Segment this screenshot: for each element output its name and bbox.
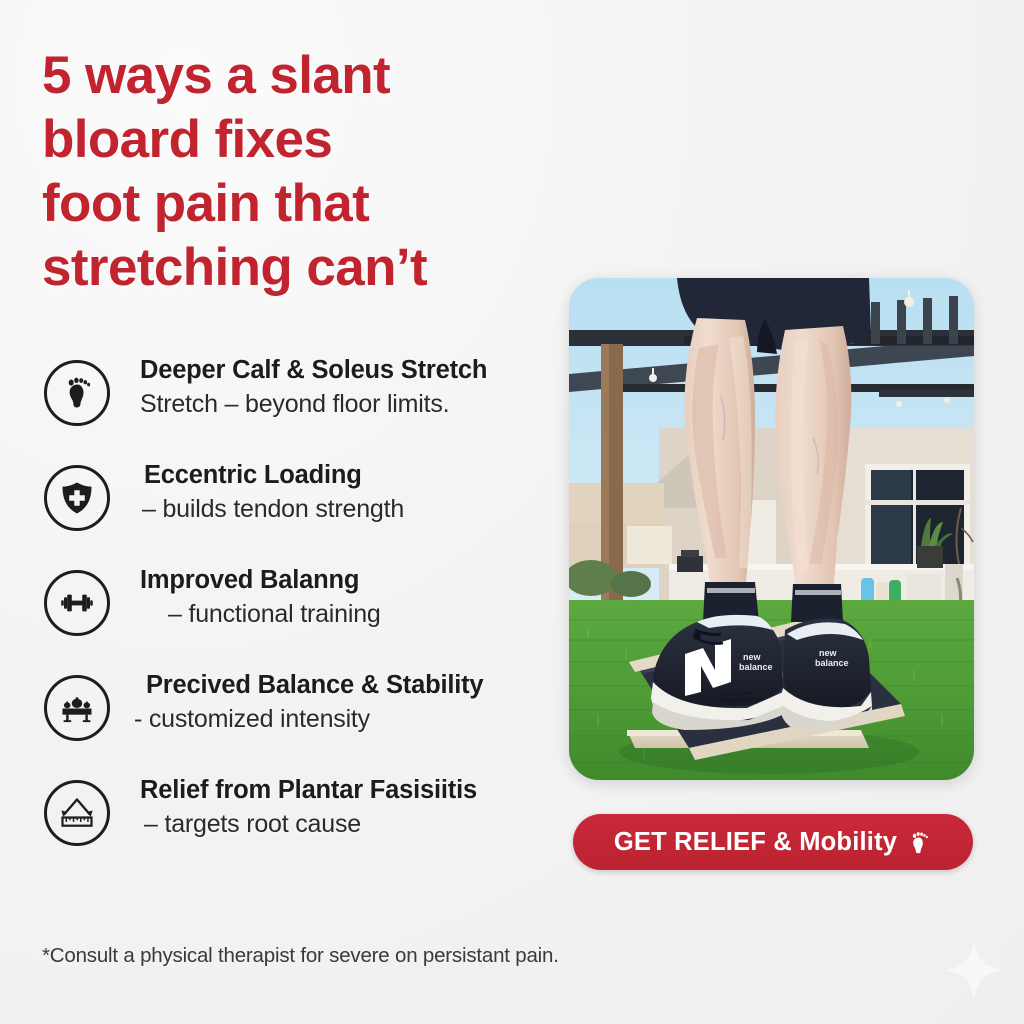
benefit-text: Relief from Plantar Fasisiitis – targets… — [140, 774, 570, 841]
headline-line-3: foot pain that — [42, 172, 582, 236]
benefit-text: Deeper Calf & Soleus Stretch Stretch – b… — [140, 354, 570, 421]
shield-cross-icon — [44, 465, 110, 531]
list-item: Precived Balance & Stability - customize… — [42, 667, 572, 772]
sparkle-icon — [942, 938, 1006, 1002]
benefit-subtitle: – functional training — [168, 597, 570, 631]
benefit-title: Deeper Calf & Soleus Stretch — [140, 354, 570, 387]
hero-photo-illustration: new balance new balance — [569, 278, 974, 780]
benefit-subtitle: Stretch – beyond floor limits. — [140, 387, 570, 421]
svg-text:new: new — [819, 648, 838, 658]
benefit-text: Improved Balanng – functional training — [140, 564, 570, 631]
page-title: 5 ways a slant bloard fixes foot pain th… — [42, 44, 582, 300]
cta-label: GET RELIEF & Mobility — [614, 828, 897, 857]
svg-text:new: new — [743, 652, 762, 662]
dumbbell-icon — [44, 570, 110, 636]
benefit-text: Eccentric Loading – builds tendon streng… — [144, 459, 574, 526]
svg-text:balance: balance — [739, 662, 773, 672]
benefit-title: Relief from Plantar Fasisiitis — [140, 774, 570, 807]
list-item: Improved Balanng – functional training — [42, 562, 572, 667]
headline-line-4: stretching can’t — [42, 236, 582, 300]
cta-button[interactable]: GET RELIEF & Mobility — [573, 814, 973, 870]
benefit-title: Precived Balance & Stability — [146, 669, 580, 702]
footprint-icon — [906, 827, 932, 857]
bench-platform-icon — [44, 675, 110, 741]
list-item: Relief from Plantar Fasisiitis – targets… — [42, 772, 572, 877]
list-item: Eccentric Loading – builds tendon streng… — [42, 457, 572, 562]
benefit-subtitle: – targets root cause — [144, 807, 570, 841]
benefit-subtitle: - customized intensity — [134, 702, 580, 736]
list-item: Deeper Calf & Soleus Stretch Stretch – b… — [42, 352, 572, 457]
benefit-subtitle: – builds tendon strength — [142, 492, 574, 526]
headline-line-2: bloard fixes — [42, 108, 582, 172]
headline-line-1: 5 ways a slant — [42, 44, 582, 108]
poster-canvas: 5 ways a slant bloard fixes foot pain th… — [0, 0, 1024, 1024]
footprint-icon — [44, 360, 110, 426]
benefit-title: Eccentric Loading — [144, 459, 574, 492]
ruler-angle-icon — [44, 780, 110, 846]
svg-text:balance: balance — [815, 658, 849, 668]
disclaimer-text: *Consult a physical therapist for severe… — [42, 944, 559, 968]
benefit-text: Precived Balance & Stability - customize… — [150, 669, 580, 736]
benefit-title: Improved Balanng — [140, 564, 570, 597]
hero-photo: new balance new balance — [569, 278, 974, 780]
benefits-list: Deeper Calf & Soleus Stretch Stretch – b… — [42, 352, 572, 877]
